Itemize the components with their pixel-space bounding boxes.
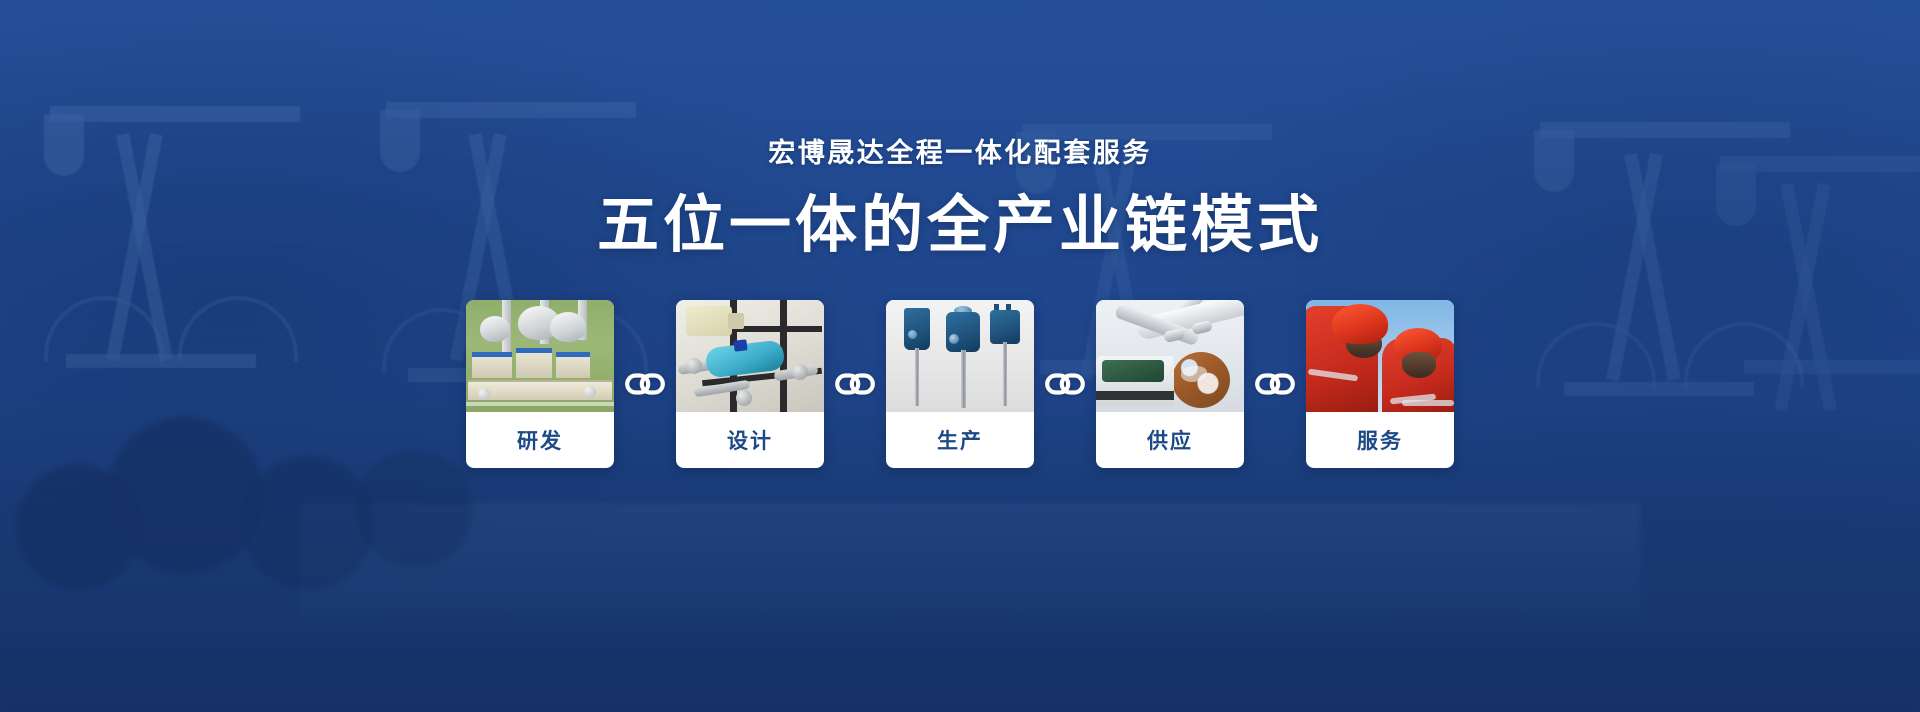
air-freight-truck-globe-logistics-image (1096, 300, 1244, 412)
chain-link-icon (1045, 371, 1085, 397)
chain-card-label: 设计 (676, 412, 824, 468)
chain-link-icon (835, 371, 875, 397)
field-workers-red-coveralls-image (1306, 300, 1454, 412)
banner-subtitle: 宏博晟达全程一体化配套服务 (768, 140, 1152, 167)
chain-card-production[interactable]: 生产 (886, 300, 1034, 468)
hero-banner: 宏博晟达全程一体化配套服务 五位一体的全产业链模式 研发 (0, 0, 1920, 712)
cad-pump-skid-render-image (676, 300, 824, 412)
value-chain-row: 研发 (466, 300, 1454, 468)
chain-connector (1244, 371, 1306, 397)
chain-link-icon (1255, 371, 1295, 397)
chain-card-design[interactable]: 设计 (676, 300, 824, 468)
chain-card-service[interactable]: 服务 (1306, 300, 1454, 468)
blue-level-transmitter-products-image (886, 300, 1034, 412)
chain-card-label: 生产 (886, 412, 1034, 468)
chain-card-label: 供应 (1096, 412, 1244, 468)
chain-card-label: 研发 (466, 412, 614, 468)
chain-card-label: 服务 (1306, 412, 1454, 468)
chain-connector (824, 371, 886, 397)
industrial-plant-aerial-image (466, 300, 614, 412)
chain-card-supply[interactable]: 供应 (1096, 300, 1244, 468)
banner-title: 五位一体的全产业链模式 (597, 193, 1323, 258)
chain-connector (1034, 371, 1096, 397)
chain-connector (614, 371, 676, 397)
chain-card-rd[interactable]: 研发 (466, 300, 614, 468)
banner-content: 宏博晟达全程一体化配套服务 五位一体的全产业链模式 研发 (0, 0, 1920, 712)
chain-link-icon (625, 371, 665, 397)
